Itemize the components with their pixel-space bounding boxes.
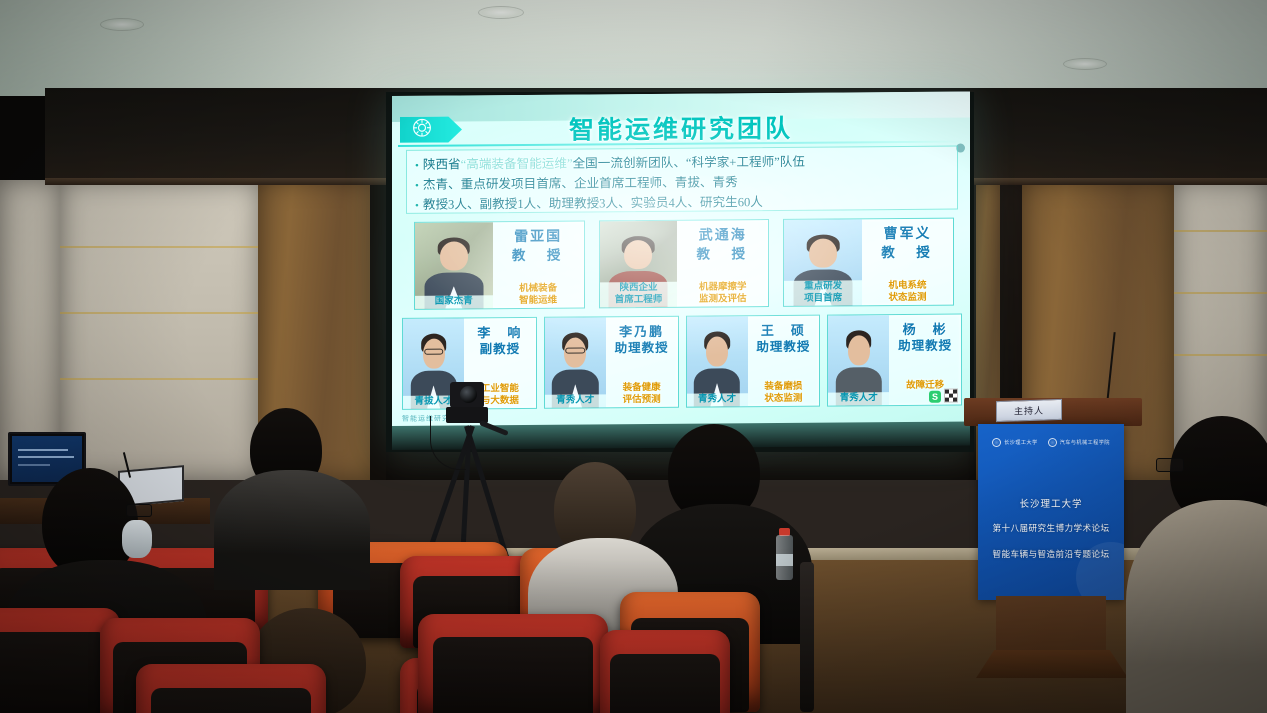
portrait-photo: 青秀人才 (545, 317, 606, 407)
honor-label: 青秀人才 (545, 394, 606, 408)
portrait-photo: 青秀人才 (828, 315, 889, 405)
audience-area (0, 420, 1267, 713)
bullet-1-pre: 陕西省 (423, 157, 461, 171)
profile-title: 教 授 (881, 244, 934, 262)
ceiling-light-tint (0, 0, 1267, 96)
eyeglasses-icon (1156, 458, 1184, 472)
camera-lens-icon (460, 386, 477, 403)
bullet-dot: • (415, 180, 419, 192)
seat (136, 664, 326, 713)
research-field: 机器摩擦学 监测及评估 (677, 282, 768, 306)
water-bottle (776, 528, 793, 580)
profile-title: 助理教授 (756, 339, 810, 355)
seat (600, 630, 730, 713)
profile-info: 曹军义 教 授 机电系统 状态监测 (862, 219, 953, 306)
honor-label: 陕西企业 首席工程师 (600, 282, 678, 308)
profile-title: 助理教授 (898, 338, 952, 354)
bullet-1-quote-1: “高端装备智能运维” (461, 157, 573, 172)
research-field: 装备磨损 状态监测 (748, 382, 820, 406)
profile-card: 国家杰青 雷亚国 教 授 机械装备 智能运维 (414, 220, 585, 309)
profile-name: 杨 彬 (903, 322, 948, 338)
bullet-dot: • (415, 160, 419, 172)
profile-name: 李 响 (477, 325, 522, 341)
profile-name: 王 硕 (761, 323, 806, 339)
bullet-1-quote-2: “科学家+工程师” (686, 155, 780, 170)
profile-info: 杨 彬 助理教授 故障迁移 S (889, 315, 961, 406)
wechat-logo-icon: S (929, 391, 941, 403)
bullet-1-mid: 全国一流创新团队、 (573, 156, 686, 171)
profile-card: 青秀人才 王 硕 助理教授 装备磨损 状态监测 (686, 315, 821, 408)
profile-info: 雷亚国 教 授 机械装备 智能运维 (493, 221, 584, 308)
slide-bullet-box: •陕西省“高端装备智能运维”全国一流创新团队、“科学家+工程师”队伍 •杰青、重… (406, 146, 958, 214)
host-name-plate: 主持人 (996, 399, 1062, 422)
profile-card: 重点研发 项目首席 曹军义 教 授 机电系统 状态监测 (783, 218, 954, 307)
portrait-photo: 重点研发 项目首席 (784, 219, 862, 306)
profile-name: 雷亚国 (514, 229, 562, 247)
presentation-slide: 智能运维研究团队 •陕西省“高端装备智能运维”全国一流创新团队、“科学家+工程师… (392, 91, 970, 426)
profile-title: 助理教授 (615, 340, 669, 356)
research-field: 机械装备 智能运维 (493, 283, 584, 307)
profile-info: 李乃鹏 助理教授 装备健康 评估预测 (606, 317, 678, 408)
portrait-photo: 青秀人才 (687, 316, 748, 406)
audience-member (218, 408, 368, 628)
seat-armrest (800, 562, 814, 712)
audience-member (1148, 416, 1267, 713)
profile-info: 武通海 教 授 机器摩擦学 监测及评估 (677, 220, 768, 307)
profile-name: 曹军义 (883, 226, 931, 244)
profile-card: 青秀人才 李乃鹏 助理教授 装备健康 评估预测 (544, 316, 679, 409)
profile-name: 武通海 (699, 227, 747, 245)
profile-name: 李乃鹏 (619, 324, 664, 340)
bullet-line-3: •教授3人、副教授1人、助理教授3人、实验员4人、研究生60人 (415, 192, 949, 216)
honor-label: 重点研发 项目首席 (784, 280, 862, 306)
face-mask (122, 520, 152, 558)
eyeglasses-icon (126, 504, 152, 517)
profile-info: 王 硕 助理教授 装备磨损 状态监测 (748, 316, 820, 407)
honor-label: 青秀人才 (687, 393, 748, 407)
professor-row-top: 国家杰青 雷亚国 教 授 机械装备 智能运维 陕西企业 首席工程师 武通海 教 … (414, 218, 954, 310)
ceiling-light-icon (100, 18, 144, 31)
lecture-hall-photo: 智能运维研究团队 •陕西省“高端装备智能运维”全国一流创新团队、“科学家+工程师… (0, 0, 1267, 713)
profile-title: 教 授 (697, 245, 750, 263)
profile-card: 青秀人才 杨 彬 助理教授 故障迁移 S (827, 314, 962, 407)
honor-label: 国家杰青 (415, 295, 493, 309)
profile-card: 陕西企业 首席工程师 武通海 教 授 机器摩擦学 监测及评估 (599, 219, 770, 308)
portrait-photo: 陕西企业 首席工程师 (600, 221, 678, 308)
profile-title: 教 授 (512, 247, 565, 265)
ceiling-light-icon (478, 6, 524, 19)
research-field: 装备健康 评估预测 (606, 383, 678, 407)
bullet-3-text: 教授3人、副教授1人、助理教授3人、实验员4人、研究生60人 (423, 195, 763, 212)
ceiling-light-icon (1063, 58, 1107, 70)
qr-code-icon (944, 389, 958, 403)
bullet-dot: • (415, 200, 419, 212)
profile-title: 副教授 (480, 341, 521, 357)
portrait-photo: 国家杰青 (415, 222, 493, 309)
seat (418, 614, 608, 713)
bullet-1-post: 队伍 (780, 155, 805, 169)
research-field: 机电系统 状态监测 (862, 281, 953, 305)
honor-label: 青秀人才 (828, 392, 889, 406)
bullet-2-text: 杰青、重点研发项目首席、企业首席工程师、青拔、青秀 (423, 175, 738, 191)
